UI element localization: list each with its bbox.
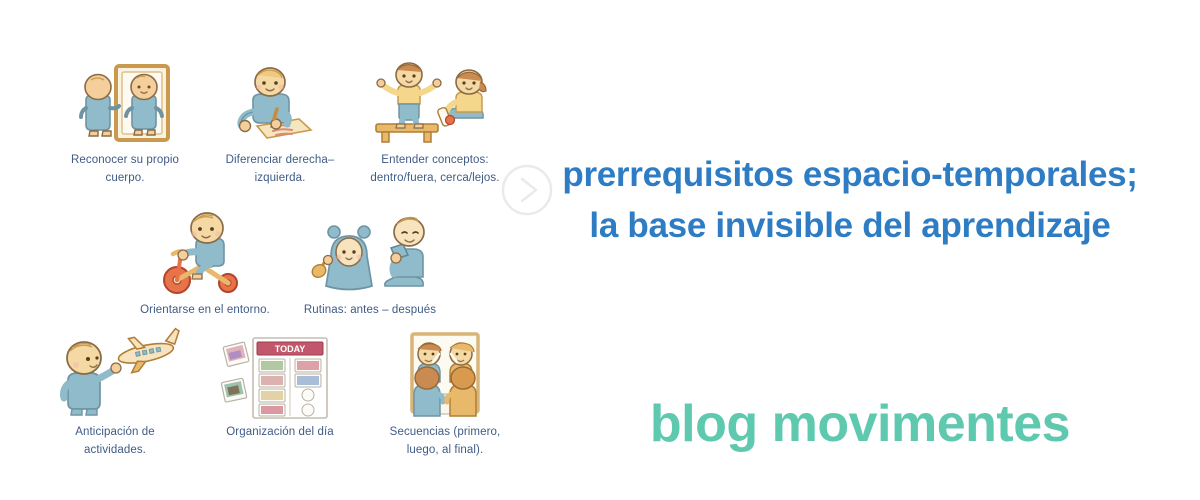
infographic-item-organizacion-dia: TODAY (205, 332, 355, 442)
infographic-caption: Orientarse en el entorno. (130, 302, 280, 320)
visual-schedule-board-icon: TODAY (215, 332, 345, 420)
caption-line-2: dentro/fuera, cerca/lejos. (370, 172, 499, 184)
infographic-item-derecha-izquierda: Diferenciar derecha– izquierda. (205, 60, 355, 188)
headline-line-2: la base invisible del aprendizaje (520, 201, 1180, 252)
infographic-caption: Anticipación de actividades. (40, 424, 190, 460)
infographic-item-orientarse-entorno: Orientarse en el entorno. (130, 210, 280, 320)
caption-line-1: Secuencias (primero, (390, 426, 501, 438)
infographic-caption: Organización del día (205, 424, 355, 442)
caption-line-2: izquierda. (255, 172, 306, 184)
baby-on-tricycle-icon (140, 210, 270, 298)
infographic-caption: Reconocer su propio cuerpo. (50, 152, 200, 188)
schedule-board-header: TODAY (275, 344, 306, 354)
caption-line-1: Anticipación de (75, 426, 155, 438)
children-brushing-teeth-mirror-icon (380, 332, 510, 420)
infographic-item-secuencias: Secuencias (primero, luego, al final). (370, 332, 520, 460)
caption-line-1: Organización del día (226, 426, 333, 438)
baby-bath-and-drinking-icon (305, 210, 435, 298)
brand-name: blog movimentes (600, 398, 1120, 450)
caption-line-2: actividades. (84, 444, 146, 456)
infographic-caption: Entender conceptos: dentro/fuera, cerca/… (360, 152, 510, 188)
infographic-caption: Rutinas: antes – después (295, 302, 445, 320)
infographic-caption: Diferenciar derecha– izquierda. (205, 152, 355, 188)
page-title: prerrequisitos espacio-temporales; la ba… (520, 150, 1180, 252)
infographic-item-rutinas: Rutinas: antes – después (295, 210, 445, 320)
caption-line-1: Orientarse en el entorno. (140, 304, 270, 316)
headline-line-1: prerrequisitos espacio-temporales; (520, 150, 1180, 201)
caption-line-1: Rutinas: antes – después (304, 304, 436, 316)
baby-at-mirror-icon (60, 60, 190, 148)
children-balance-beam-icon (370, 60, 500, 148)
caption-line-1: Entender conceptos: (381, 154, 488, 166)
caption-line-1: Diferenciar derecha– (226, 154, 335, 166)
baby-pointing-airplane-icon (50, 332, 180, 420)
infographic-item-conceptos-espaciales: Entender conceptos: dentro/fuera, cerca/… (360, 60, 510, 188)
infographic-banner: Reconocer su propio cuerpo. (0, 0, 1200, 500)
caption-line-1: Reconocer su propio (71, 154, 179, 166)
infographic-item-anticipacion: Anticipación de actividades. (40, 332, 190, 460)
infographic-caption: Secuencias (primero, luego, al final). (370, 424, 520, 460)
infographic-item-reconocer-cuerpo: Reconocer su propio cuerpo. (50, 60, 200, 188)
baby-drawing-icon (215, 60, 345, 148)
caption-line-2: cuerpo. (105, 172, 144, 184)
infographic-grid: Reconocer su propio cuerpo. (40, 60, 550, 480)
caption-line-2: luego, al final). (407, 444, 484, 456)
